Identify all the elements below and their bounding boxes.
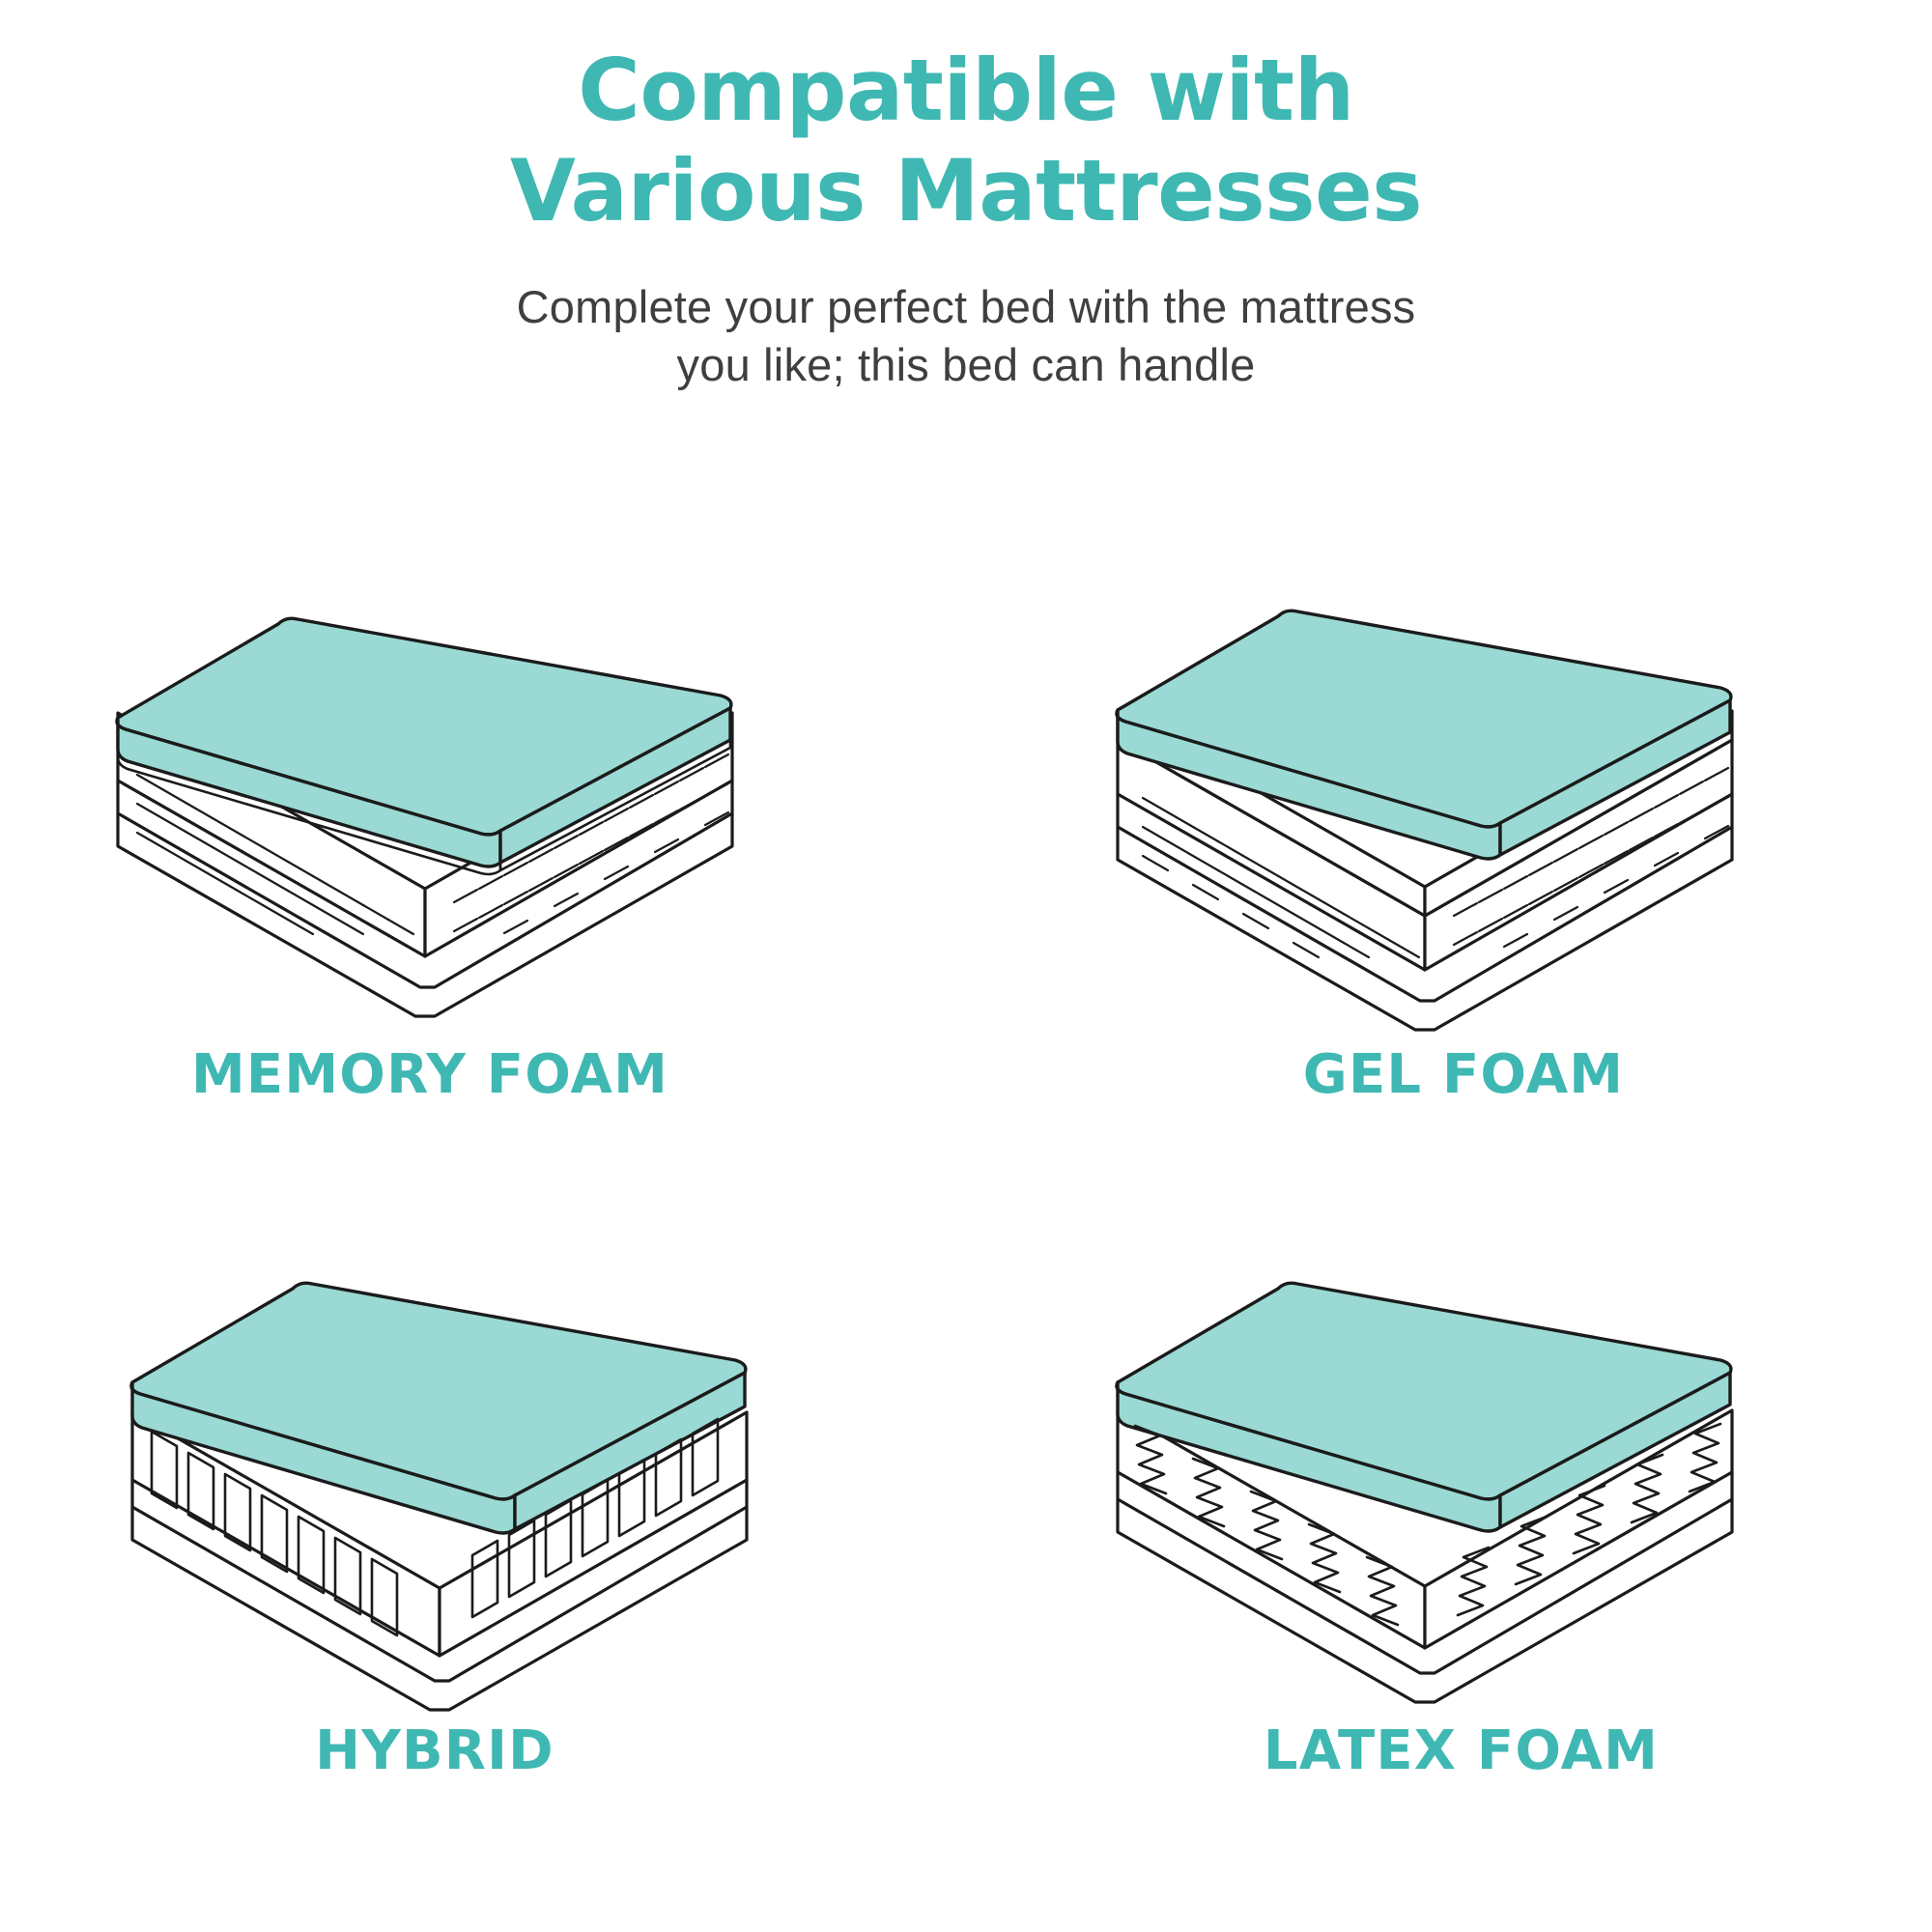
page-title-line-2: Various Mattresses (0, 141, 1932, 241)
page-title: Compatible with Various Mattresses (0, 41, 1932, 241)
hybrid-illustration (111, 1217, 845, 1719)
latex-foam-illustration (1096, 1217, 1831, 1719)
mattress-card-memory-foam: MEMORY FOAM (0, 541, 966, 1217)
infographic-page: Compatible with Various Mattresses Compl… (0, 0, 1932, 1932)
header: Compatible with Various Mattresses Compl… (0, 0, 1932, 394)
mattress-label-hybrid: HYBRID (315, 1719, 554, 1782)
page-subtitle: Complete your perfect bed with the mattr… (0, 278, 1932, 394)
page-title-line-1: Compatible with (0, 41, 1932, 141)
gel-foam-illustration (1096, 541, 1831, 1043)
mattress-card-gel-foam: GEL FOAM (966, 541, 1932, 1217)
memory-foam-illustration (97, 541, 831, 1043)
mattress-label-gel-foam: GEL FOAM (1303, 1043, 1624, 1106)
mattress-label-memory-foam: MEMORY FOAM (191, 1043, 668, 1106)
mattress-label-latex-foam: LATEX FOAM (1264, 1719, 1659, 1782)
mattress-card-hybrid: HYBRID (0, 1217, 966, 1893)
mattress-grid: MEMORY FOAM (0, 541, 1932, 1893)
mattress-card-latex-foam: LATEX FOAM (966, 1217, 1932, 1893)
page-subtitle-line-2: you like; this bed can handle (0, 336, 1932, 394)
page-subtitle-line-1: Complete your perfect bed with the mattr… (0, 278, 1932, 336)
